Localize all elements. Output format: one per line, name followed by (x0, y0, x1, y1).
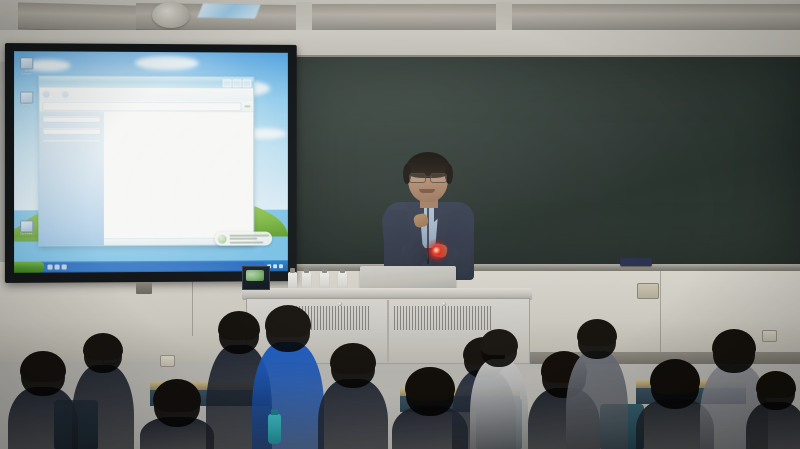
desktop-icon-1-label: My Computer (20, 69, 32, 75)
desktop-icon-3-label: Documents (20, 232, 32, 235)
maximize-icon[interactable] (233, 79, 242, 87)
osd-bars (230, 234, 270, 243)
ceiling-beam-4 (500, 4, 800, 31)
desktop-icon-1-glyph (20, 57, 33, 69)
student-3-hair (153, 379, 201, 412)
file-list-area[interactable] (104, 112, 253, 246)
explorer-window[interactable] (38, 75, 254, 246)
student-2 (72, 334, 134, 449)
bottle-2-cap (304, 268, 309, 273)
osd-status-icon (218, 234, 227, 243)
task-pane-1-filler (43, 118, 99, 122)
glasses-lens-left (409, 173, 426, 183)
student-6-body (318, 379, 388, 449)
laser-pointer-icon (433, 247, 441, 255)
student-1-hair (20, 351, 65, 382)
desktop-icon-3[interactable]: Documents (20, 220, 32, 235)
bottle-4-cap (340, 268, 345, 273)
xp-cloud-2 (135, 56, 199, 70)
water-bottle (268, 414, 281, 444)
side-display-glow (246, 270, 264, 281)
ceiling-beam-divider-1 (296, 2, 312, 32)
search-icon[interactable] (62, 91, 69, 98)
quick-launch-bar[interactable] (44, 264, 69, 269)
student-5-body (252, 342, 324, 449)
podium-vent-2 (394, 306, 492, 330)
bottle-3-cap (322, 268, 327, 273)
glasses-lens-right (430, 173, 447, 183)
tray-icon-2[interactable] (273, 264, 277, 268)
bottle-1-cap (290, 268, 295, 273)
desktop-icon-1[interactable]: My Computer (20, 57, 32, 75)
quick-launch-icon-1[interactable] (47, 265, 52, 270)
address-bar[interactable] (39, 101, 253, 113)
student-6-hair (330, 343, 375, 374)
desktop-icon-2[interactable]: Recycle Bin (20, 91, 32, 109)
glasses-icon (409, 173, 447, 181)
ceiling-beam-1 (18, 2, 138, 32)
student-2-hair (83, 333, 123, 360)
student-3 (140, 380, 214, 449)
address-input[interactable] (42, 101, 241, 111)
quick-launch-icon-2[interactable] (55, 265, 60, 270)
podium-knob-1[interactable] (338, 302, 342, 306)
tray-icon-3[interactable] (279, 264, 283, 268)
osd-bar-2 (230, 238, 258, 240)
student-9-body (470, 359, 528, 449)
student-5 (252, 306, 324, 449)
student-1 (8, 352, 78, 449)
student-9-hair (480, 329, 518, 355)
podium-knob-2[interactable] (442, 302, 446, 306)
window-controls[interactable] (223, 79, 252, 87)
presenter-mouth (419, 189, 435, 193)
blackboard-sheen (292, 57, 800, 269)
student-12-hair (650, 359, 700, 394)
task-pane-2-filler (43, 130, 99, 134)
back-icon[interactable] (42, 91, 49, 98)
student-7-hair (405, 367, 454, 401)
ceiling-light (197, 3, 260, 18)
window-toolbar[interactable] (39, 88, 253, 102)
student-1-body (8, 387, 78, 449)
student-6 (318, 344, 388, 449)
osd-bar-1 (230, 234, 270, 236)
student-2-body (72, 365, 134, 449)
window-title-bar[interactable] (39, 76, 253, 88)
side-display (242, 266, 270, 290)
projection-screen-mount (136, 282, 152, 294)
desktop-icon-2-label: Recycle Bin (20, 104, 32, 110)
student-14 (746, 372, 800, 449)
wall-outlet-3 (160, 355, 175, 367)
desktop-icon-2-glyph (20, 91, 33, 103)
student-11-hair (577, 319, 617, 346)
desktop-icon-3-glyph (20, 220, 33, 232)
water-bottle-cap (271, 409, 278, 415)
ceiling-beam-3 (300, 4, 500, 31)
task-pane-3[interactable] (42, 139, 100, 143)
wall-outlet-1 (637, 283, 659, 299)
task-pane-3-header (43, 140, 99, 142)
blackboard (292, 55, 800, 269)
quick-launch-icon-3[interactable] (62, 264, 67, 269)
task-pane-sidebar (39, 112, 104, 247)
task-pane-1[interactable] (42, 115, 100, 123)
start-button[interactable] (14, 262, 44, 273)
close-icon[interactable] (242, 79, 251, 87)
student-11 (566, 320, 628, 449)
go-button[interactable] (244, 105, 250, 107)
projector-osd-overlay (215, 232, 272, 246)
window-body (39, 112, 253, 247)
student-5-hair (265, 305, 312, 337)
osd-bar-3 (230, 241, 264, 243)
student-9 (470, 330, 528, 449)
projection-screen: My Computer Recycle Bin Documents Intern… (5, 43, 297, 283)
ceiling-speaker-dome-icon (152, 2, 190, 28)
student-11-body (566, 351, 628, 449)
wall-seam-1 (660, 271, 661, 353)
blackboard-eraser (620, 258, 652, 266)
presenter (378, 152, 478, 277)
ceiling-beam-divider-2 (496, 2, 512, 32)
projection-screen-surface: My Computer Recycle Bin Documents Intern… (14, 51, 288, 273)
minimize-icon[interactable] (223, 79, 232, 87)
lecture-hall-photo: My Computer Recycle Bin Documents Intern… (0, 0, 800, 449)
student-14-hair (756, 371, 795, 398)
window-title (41, 82, 222, 83)
task-pane-2[interactable] (42, 127, 100, 135)
student-13-hair (712, 329, 756, 359)
